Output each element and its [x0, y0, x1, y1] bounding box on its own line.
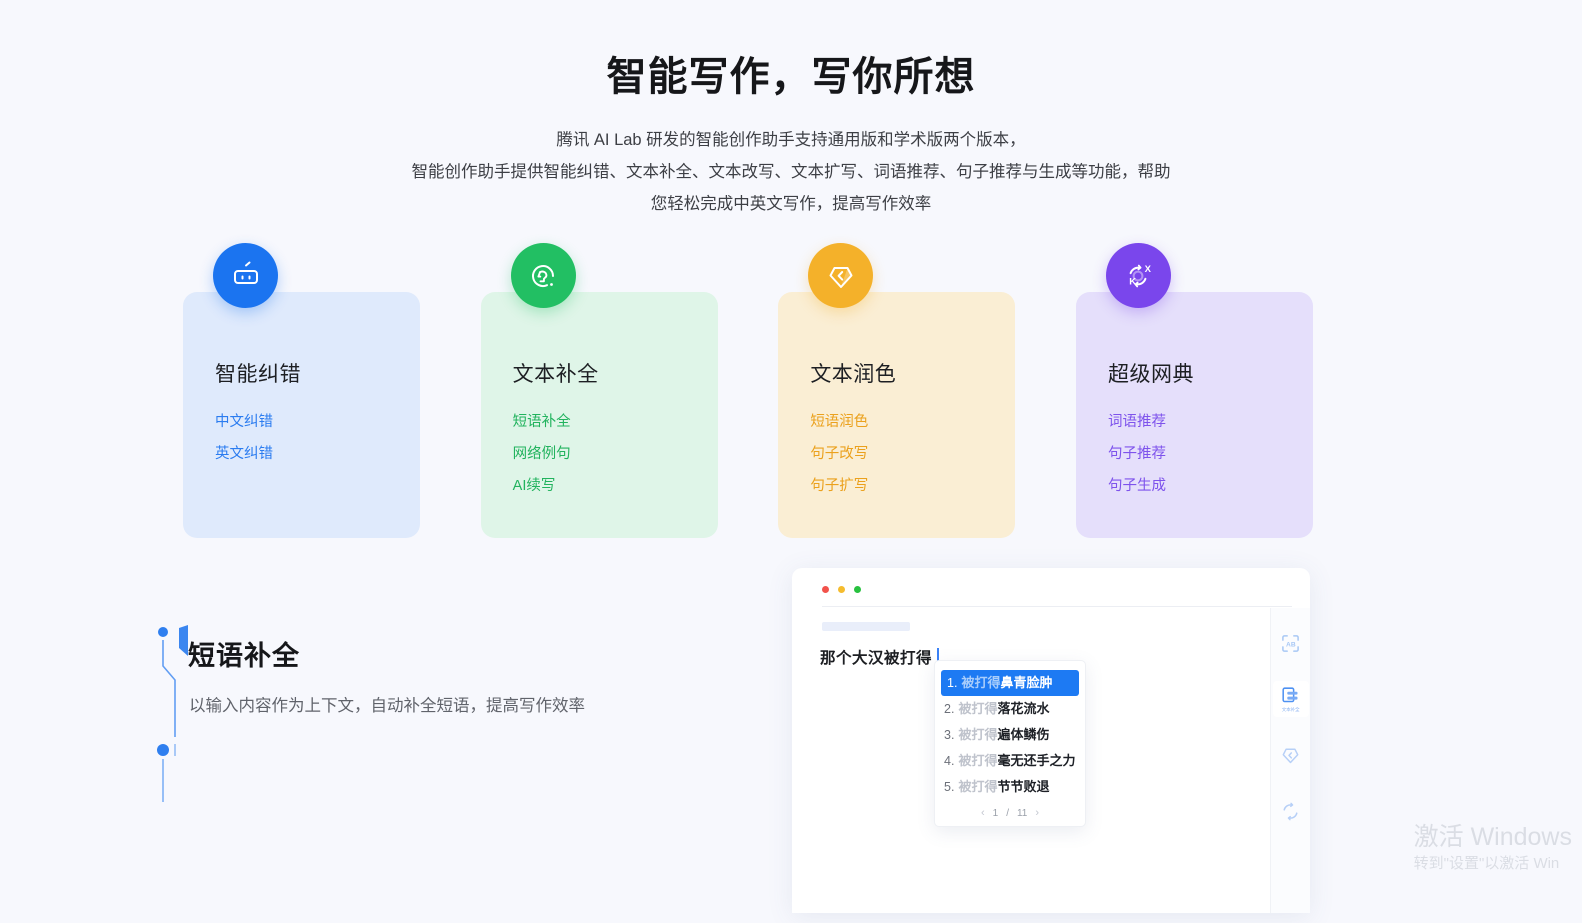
translate-refresh-icon: X K: [1106, 243, 1171, 308]
document-complete-icon: [1281, 686, 1300, 705]
feature-link-sentence-rewrite[interactable]: 句子改写: [810, 438, 1015, 470]
feature-link-english-correction[interactable]: 英文纠错: [215, 438, 420, 470]
suggestion-pagination: ‹ 1 / 11 ›: [935, 800, 1085, 822]
suggestion-item[interactable]: 5. 被打得 节节败退: [935, 774, 1085, 800]
page-current: 1: [993, 808, 999, 819]
feature-card-smart-correction[interactable]: 智能纠错 中文纠错 英文纠错: [183, 292, 420, 538]
feature-link-web-examples[interactable]: 网络例句: [513, 438, 718, 470]
hero-subtitle-line-1: 腾讯 AI Lab 研发的智能创作助手支持通用版和学术版两个版本，: [0, 124, 1582, 156]
suggestion-prefix: 被打得: [958, 752, 997, 770]
close-dot-icon[interactable]: [822, 586, 829, 593]
windows-activation-watermark: 激活 Windows 转到"设置"以激活 Win: [1414, 821, 1572, 875]
sidebar-tool-rewrite[interactable]: [1273, 793, 1309, 829]
page-separator: /: [1006, 808, 1009, 819]
window-traffic-lights: [822, 586, 861, 593]
suggestion-completion: 节节败退: [997, 778, 1049, 796]
suggestion-index: 5.: [944, 778, 954, 796]
feature-card-list: 智能纠错 中文纠错 英文纠错 文本补全 短语补全 网络例句 AI续写: [183, 292, 1313, 538]
scan-correct-icon: AB: [1281, 634, 1300, 653]
feature-card-text-polishing[interactable]: 文本润色 短语润色 句子改写 句子扩写: [778, 292, 1015, 538]
feature-link-chinese-correction[interactable]: 中文纠错: [215, 406, 420, 438]
demo-tool-sidebar: AB 文本补全: [1270, 608, 1310, 913]
gem-outline-icon: [1281, 746, 1300, 765]
suggestion-item[interactable]: 1. 被打得 鼻青脸肿: [941, 670, 1079, 696]
suggestion-index: 1.: [947, 674, 957, 692]
feature-link-sentence-recommend[interactable]: 句子推荐: [1108, 438, 1313, 470]
suggestion-index: 4.: [944, 752, 954, 770]
gem-icon: [808, 243, 873, 308]
suggestion-completion: 毫无还手之力: [997, 752, 1075, 770]
feature-link-sentence-generate[interactable]: 句子生成: [1108, 470, 1313, 502]
page-root: 智能写作，写你所想 腾讯 AI Lab 研发的智能创作助手支持通用版和学术版两个…: [0, 0, 1582, 923]
window-divider: [822, 606, 1292, 607]
suggestion-prefix: 被打得: [961, 674, 1000, 692]
robot-icon: [213, 243, 278, 308]
svg-text:K: K: [1130, 276, 1137, 287]
section-heading: 短语补全: [188, 634, 300, 673]
hero-subtitle-line-3: 您轻松完成中英文写作，提高写作效率: [0, 188, 1582, 220]
chevron-right-icon[interactable]: ›: [1035, 807, 1039, 819]
minimize-dot-icon[interactable]: [838, 586, 845, 593]
demo-window: 那个大汉被打得 1. 被打得 鼻青脸肿 2. 被打得 落花流水 3. 被打得 遍…: [792, 568, 1310, 913]
suggestion-item[interactable]: 4. 被打得 毫无还手之力: [935, 748, 1085, 774]
watermark-subtitle: 转到"设置"以激活 Win: [1414, 853, 1572, 875]
svg-text:AB: AB: [1286, 641, 1296, 648]
refresh-icon: [1281, 802, 1300, 821]
feature-link-word-recommend[interactable]: 词语推荐: [1108, 406, 1313, 438]
suggestion-completion: 遍体鳞伤: [997, 726, 1049, 744]
feature-card-title: 文本补全: [513, 358, 718, 388]
feature-card-title: 文本润色: [810, 358, 1015, 388]
maximize-dot-icon[interactable]: [854, 586, 861, 593]
editor-text-line[interactable]: 那个大汉被打得: [820, 646, 939, 668]
suggestion-index: 2.: [944, 700, 954, 718]
page-title: 智能写作，写你所想: [0, 52, 1582, 102]
chevron-left-icon[interactable]: ‹: [981, 807, 985, 819]
hero-subtitle: 腾讯 AI Lab 研发的智能创作助手支持通用版和学术版两个版本， 智能创作助手…: [0, 124, 1582, 220]
editor-text: 那个大汉被打得: [820, 646, 932, 668]
head-profile-icon: [511, 243, 576, 308]
suggestion-prefix: 被打得: [958, 726, 997, 744]
suggestion-dropdown[interactable]: 1. 被打得 鼻青脸肿 2. 被打得 落花流水 3. 被打得 遍体鳞伤 4. 被…: [934, 660, 1086, 827]
suggestion-prefix: 被打得: [958, 778, 997, 796]
sidebar-tool-polish[interactable]: [1273, 737, 1309, 773]
feature-card-text-completion[interactable]: 文本补全 短语补全 网络例句 AI续写: [481, 292, 718, 538]
feature-link-phrase-polish[interactable]: 短语润色: [810, 406, 1015, 438]
feature-card-title: 超级网典: [1108, 358, 1313, 388]
feature-card-title: 智能纠错: [215, 358, 420, 388]
suggestion-prefix: 被打得: [958, 700, 997, 718]
suggestion-item[interactable]: 3. 被打得 遍体鳞伤: [935, 722, 1085, 748]
page-total: 11: [1017, 808, 1027, 819]
watermark-title: 激活 Windows: [1414, 821, 1572, 853]
svg-text:X: X: [1145, 264, 1152, 275]
sidebar-tool-text-completion[interactable]: 文本补全: [1273, 681, 1309, 717]
suggestion-item[interactable]: 2. 被打得 落花流水: [935, 696, 1085, 722]
feature-link-ai-continuation[interactable]: AI续写: [513, 470, 718, 502]
suggestion-index: 3.: [944, 726, 954, 744]
hero-section: 智能写作，写你所想 腾讯 AI Lab 研发的智能创作助手支持通用版和学术版两个…: [0, 0, 1582, 220]
feature-card-super-dictionary[interactable]: X K 超级网典 词语推荐 句子推荐 句子生成: [1076, 292, 1313, 538]
section-description: 以输入内容作为上下文，自动补全短语，提高写作效率: [189, 692, 585, 716]
sidebar-tool-label: 文本补全: [1282, 706, 1300, 712]
suggestion-completion: 落花流水: [997, 700, 1049, 718]
sidebar-tool-correction[interactable]: AB: [1273, 625, 1309, 661]
hero-subtitle-line-2: 智能创作助手提供智能纠错、文本补全、文本改写、文本扩写、词语推荐、句子推荐与生成…: [0, 156, 1582, 188]
editor-placeholder-bar: [822, 622, 910, 631]
feature-link-sentence-expand[interactable]: 句子扩写: [810, 470, 1015, 502]
suggestion-completion: 鼻青脸肿: [1000, 674, 1052, 692]
feature-link-phrase-completion[interactable]: 短语补全: [513, 406, 718, 438]
